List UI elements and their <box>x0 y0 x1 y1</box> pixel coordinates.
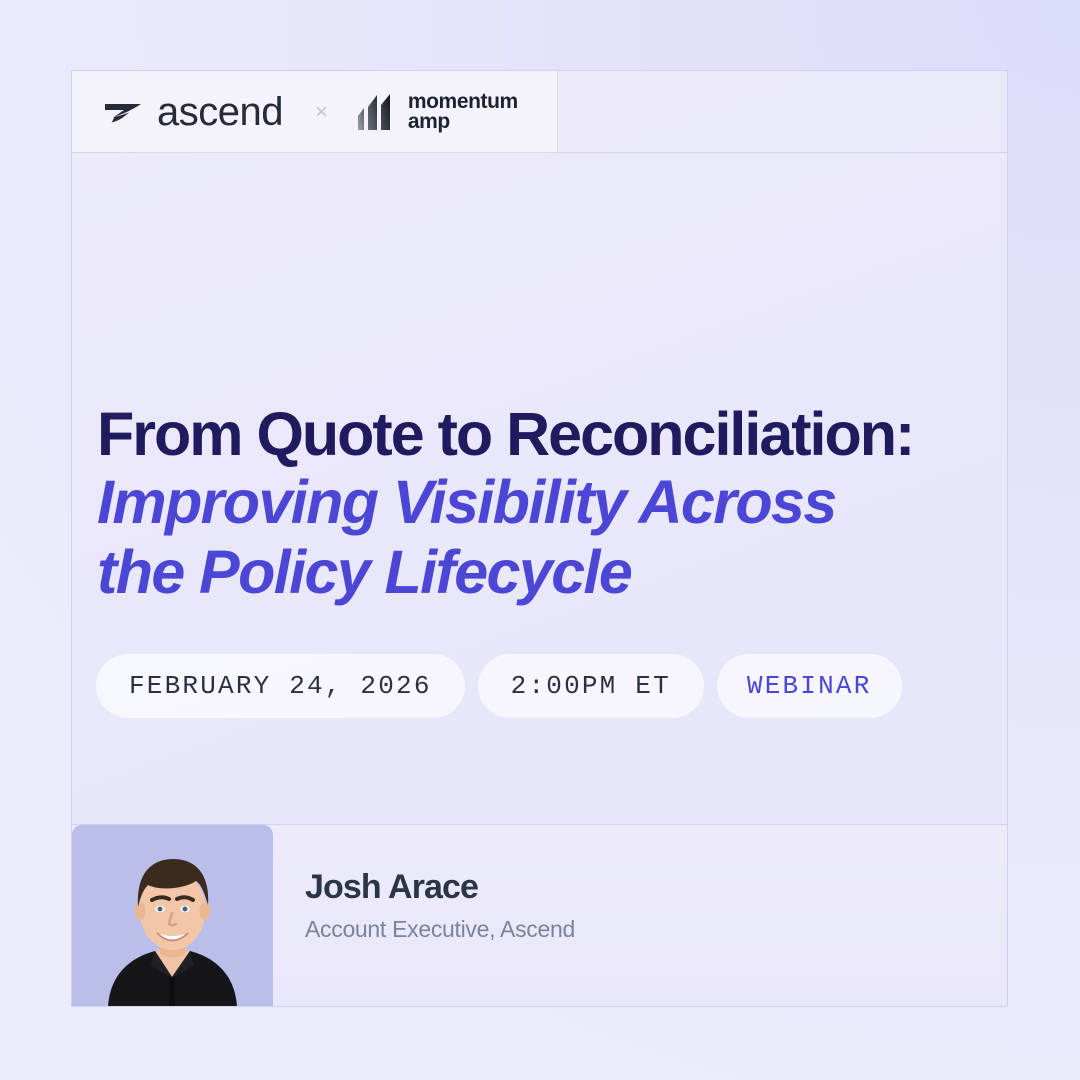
time-pill: 2:00PM ET <box>478 654 704 718</box>
event-meta-pills: FEBRUARY 24, 2026 2:00PM ET WEBINAR <box>96 654 902 718</box>
speaker-headshot-image <box>72 825 273 1007</box>
ascend-logo: ascend <box>102 91 283 133</box>
momentum-amp-wordmark: momentum amp <box>408 92 518 131</box>
title-line-1: From Quote to Reconciliation: <box>97 401 987 468</box>
card-body: From Quote to Reconciliation: Improving … <box>72 153 1007 824</box>
event-type-pill: WEBINAR <box>717 654 902 718</box>
card-header: ascend × <box>72 71 558 153</box>
avatar <box>72 825 273 1007</box>
close-icon: × <box>315 101 328 123</box>
title-line-2: Improving Visibility Across <box>97 468 987 538</box>
webinar-promo-card: ascend × <box>71 70 1008 1007</box>
logo-lockup-group: ascend × <box>72 91 518 133</box>
momentum-bars-icon <box>356 94 396 130</box>
momentum-word-line2: amp <box>408 112 518 132</box>
momentum-word-line1: momentum <box>408 92 518 112</box>
title-line-3: the Policy Lifecycle <box>97 538 987 608</box>
page-title: From Quote to Reconciliation: Improving … <box>97 401 987 607</box>
speaker-role: Account Executive, Ascend <box>305 917 575 942</box>
speaker-strip: Josh Arace Account Executive, Ascend <box>72 824 1008 1006</box>
speaker-details: Josh Arace Account Executive, Ascend <box>305 869 575 943</box>
momentum-amp-logo: momentum amp <box>356 92 518 131</box>
speaker-name: Josh Arace <box>305 869 575 906</box>
date-pill: FEBRUARY 24, 2026 <box>96 654 465 718</box>
ascend-swoosh-icon <box>102 91 144 133</box>
ascend-wordmark: ascend <box>157 92 283 132</box>
